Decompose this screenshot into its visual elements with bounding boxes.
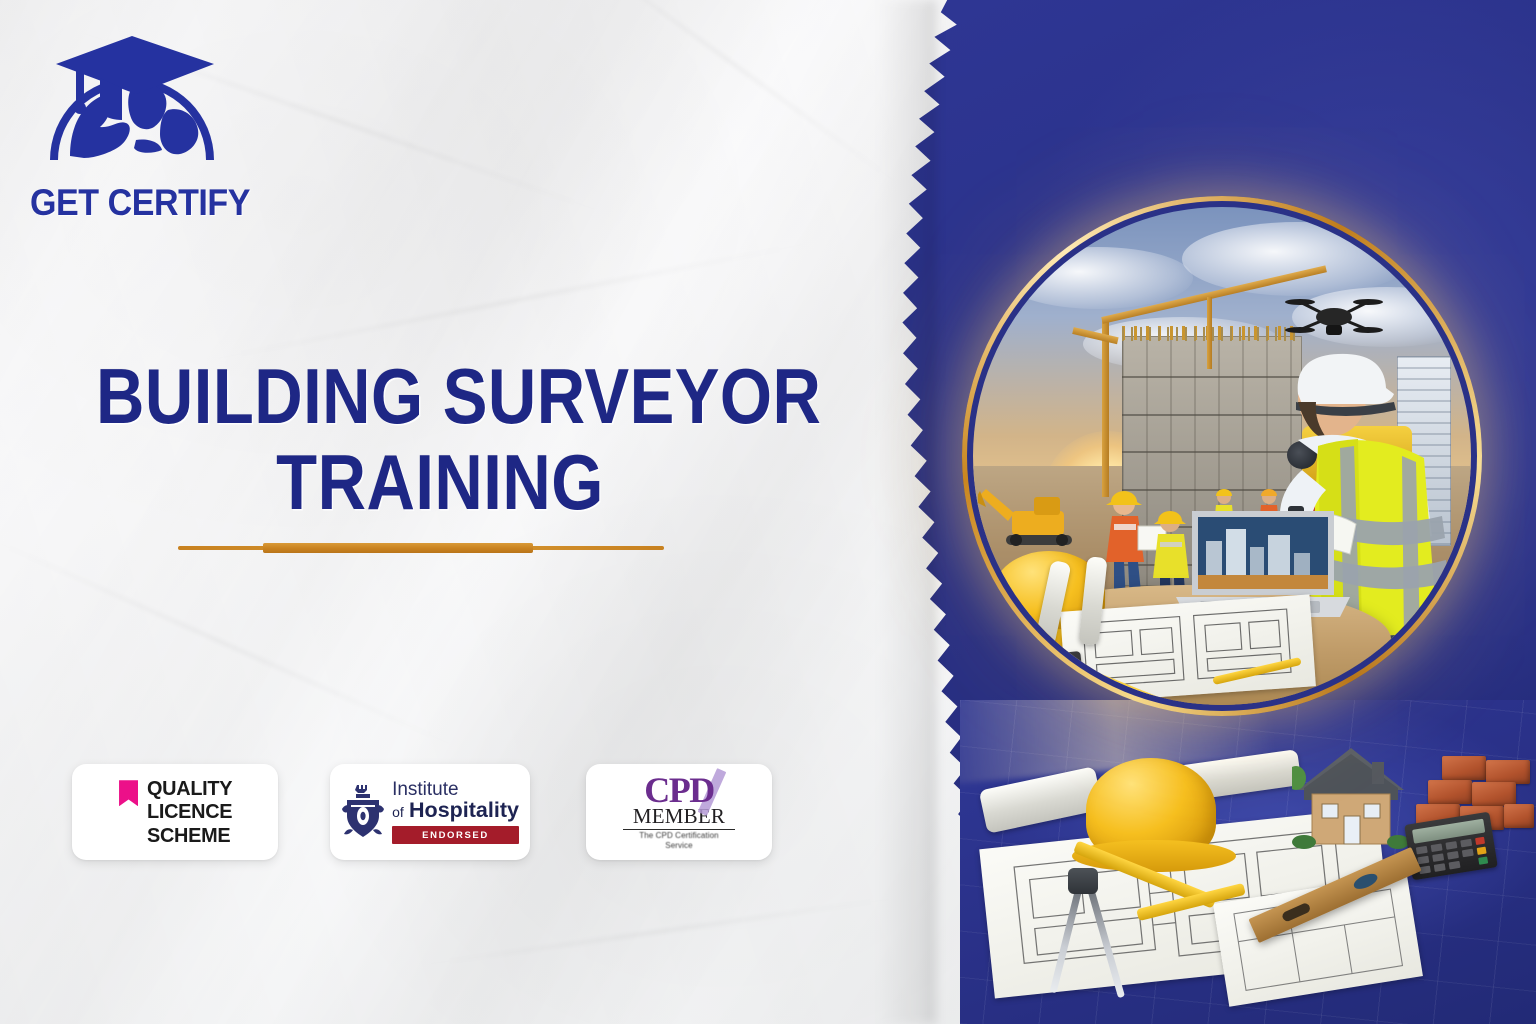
qls-line-2: LICENCE [147,800,232,823]
brand-name: GET CERTIFY [30,182,223,224]
crane-cable [1207,297,1212,369]
cpd-title: CPD [644,774,714,807]
desk-calculator [1000,651,1085,705]
title-line-2: TRAINING [96,444,784,520]
heraldic-crest-icon [341,783,385,841]
hero-circle-image [962,196,1482,716]
brand-logo[interactable]: GET CERTIFY [30,28,240,208]
cpd-divider [623,829,735,830]
badge-quality-licence-scheme[interactable]: QUALITY LICENCE SCHEME [72,764,278,860]
excavator [978,481,1098,551]
graduation-cap-globe-icon [40,28,225,168]
ioh-line-2: Hospitality [409,798,519,822]
ioh-endorsed-ribbon: ENDORSED [392,826,519,844]
cpd-footnote-2: Service [639,841,718,850]
ioh-line-1: Institute [392,780,519,799]
ioh-of: of [392,804,404,820]
title-divider [178,540,664,556]
badge-institute-of-hospitality[interactable]: Institute of Hospitality ENDORSED [330,764,530,860]
tower-crane-mast [1102,317,1109,497]
cpd-footnote-1: The CPD Certification [639,831,718,840]
accreditation-badges: QUALITY LICENCE SCHEME [72,764,792,864]
badge-cpd-member[interactable]: CPD MEMBER The CPD Certification Service [586,764,772,860]
course-promo-banner: GET CERTIFY BUILDING SURVEYOR TRAINING Q… [0,0,1536,1024]
qls-line-3: SCHEME [147,824,232,847]
drafting-compass-head [1068,868,1098,894]
page-title: BUILDING SURVEYOR TRAINING [40,358,840,521]
bookmark-icon [119,780,138,806]
house-model [1292,742,1410,850]
title-line-1: BUILDING SURVEYOR [96,358,784,434]
blueprint-desk-photo [960,700,1536,1024]
qls-line-1: QUALITY [147,777,232,800]
